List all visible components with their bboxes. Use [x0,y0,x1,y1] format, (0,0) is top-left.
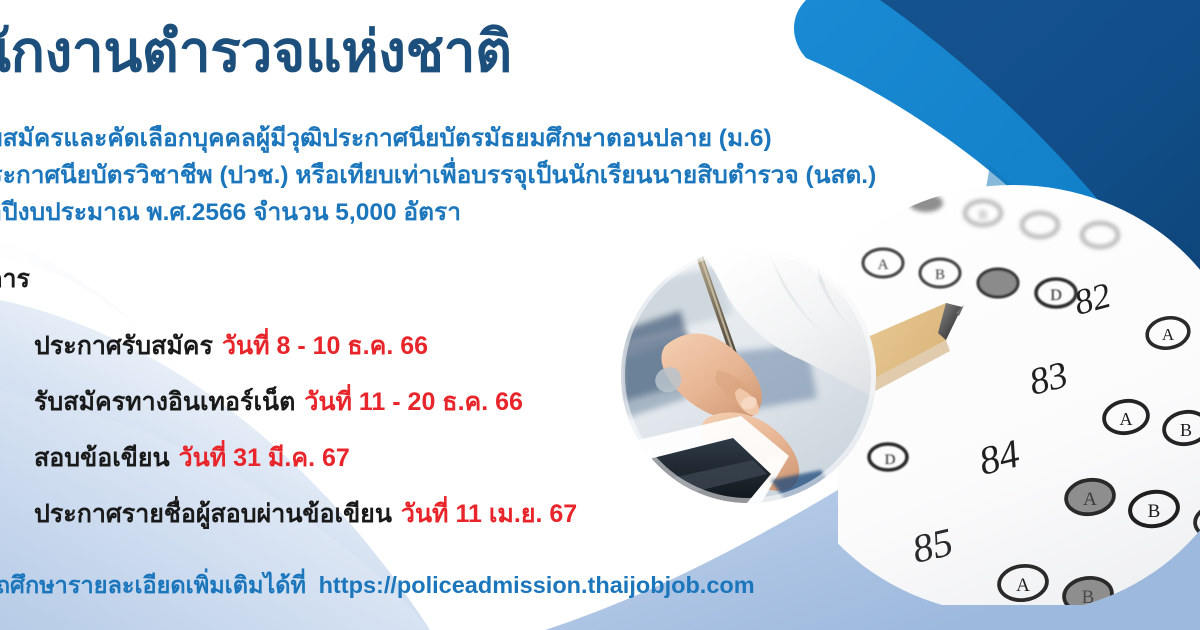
subtitle-line-2: ประกาศนียบัตรวิชาชีพ (ปวช.) หรือเทียบเท่… [0,157,1074,194]
schedule-item-date: วันที่ 11 - 20 ธ.ค. 66 [304,382,523,422]
schedule-item-label: ประกาศรับสมัคร [34,326,213,366]
subtitle-line-1: รับสมัครและคัดเลือกบุคคลผู้มีวุฒิประกาศน… [0,120,1074,157]
schedule-item: รับสมัครทางอินเทอร์เน็ต วันที่ 11 - 20 ธ… [0,374,682,430]
schedule-list: ประกาศรับสมัคร วันที่ 8 - 10 ธ.ค. 66 รับ… [0,318,682,542]
bullet-arrow-group [0,335,34,357]
bullet-arrow-group [0,391,34,413]
bullet-arrow-group [0,503,34,525]
page-title: นักงานตำรวจแห่งชาติ [0,22,732,84]
schedule-item: สอบข้อเขียน วันที่ 31 มี.ค. 67 [0,430,682,486]
schedule-item-date: วันที่ 8 - 10 ธ.ค. 66 [222,326,428,366]
poster-root: B A B D B [0,0,1200,630]
schedule-item-label: ประกาศรายชื่อผู้สอบผ่านข้อเขียน [34,494,392,534]
footer-note: ารถศึกษารายละเอียดเพิ่มเติมได้ที่ https:… [0,567,755,604]
schedule-heading: นดการ [0,259,30,299]
subtitle-block: รับสมัครและคัดเลือกบุคคลผู้มีวุฒิประกาศน… [0,120,1074,232]
schedule-item-label: รับสมัครทางอินเทอร์เน็ต [34,382,295,422]
footer-url-link[interactable]: https://policeadmission.thaijobjob.com [319,572,755,598]
bullet-arrow-group [0,447,34,469]
schedule-item: ประกาศรับสมัคร วันที่ 8 - 10 ธ.ค. 66 [0,318,682,374]
footer-label: ารถศึกษารายละเอียดเพิ่มเติมได้ที่ [0,572,306,598]
schedule-item-label: สอบข้อเขียน [34,438,170,478]
schedule-item: ประกาศรายชื่อผู้สอบผ่านข้อเขียน วันที่ 1… [0,486,682,542]
schedule-item-date: วันที่ 11 เม.ย. 67 [401,494,577,534]
poster-content: นักงานตำรวจแห่งชาติ รับสมัครและคัดเลือกบ… [0,0,1200,630]
schedule-item-date: วันที่ 31 มี.ค. 67 [179,438,350,478]
subtitle-line-3: จำปีงบประมาณ พ.ศ.2566 จำนวน 5,000 อัตรา [0,194,1074,231]
